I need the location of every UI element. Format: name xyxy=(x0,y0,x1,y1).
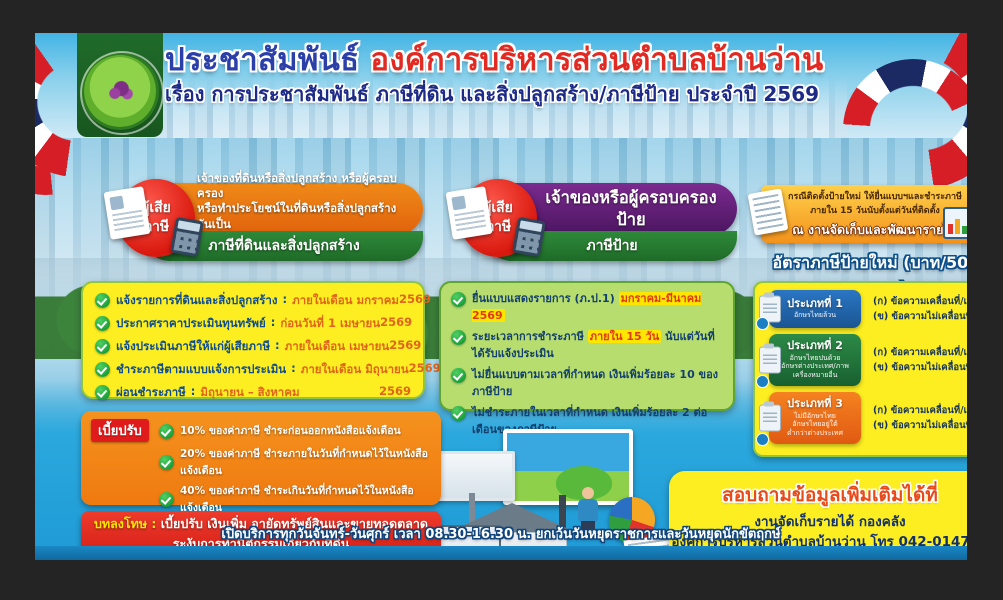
list-item: แจ้งประเมินภาษีให้แก่ผู้เสียภาษี : ภายใน… xyxy=(95,338,411,356)
footer-hours: เปิดบริการทุกวันจันทร์-วันศุกร์ เวลา 08.… xyxy=(35,523,967,544)
penalty-item: 10% ของค่าภาษี ชำระก่อนออกหนังสือแจ้งเตื… xyxy=(180,422,401,439)
logo-ring xyxy=(80,51,164,135)
rate-descriptions: (ก) ข้อความเคลื่อนที่/เปลี่ยนได้ (ข) ข้อ… xyxy=(861,403,967,433)
sign-rule-highlight: ภายใน 15 วัน xyxy=(588,330,661,343)
taxpayer-land-desc-line2: หรือทำประโยชน์ในที่ดินหรือสิ่งปลูกสร้างอ… xyxy=(197,201,409,231)
poster-header: ประชาสัมพันธ์ องค์การบริหารส่วนตำบลบ้านว… xyxy=(35,33,967,138)
new-sign-notice: กรณีติดตั้งป้ายใหม่ ให้ยื่นแบบฯและชำระภา… xyxy=(761,185,967,243)
rate-desc-a: (ก) ข้อความเคลื่อนที่/เปลี่ยนได้ xyxy=(873,345,967,360)
poster-canvas: ประชาสัมพันธ์ องค์การบริหารส่วนตำบลบ้านว… xyxy=(35,33,967,560)
sign-rule-text: ไม่ยื่นแบบตามเวลาที่กำหนด เงินเพิ่มร้อยล… xyxy=(472,367,723,400)
list-item: ยื่นแบบแสดงรายการ (ภ.ป.1) มกราคม-มีนาคม … xyxy=(451,291,723,324)
page-subtitle: เรื่อง การประชาสัมพันธ์ ภาษีที่ดิน และสิ… xyxy=(165,82,817,106)
check-badge-icon xyxy=(756,317,769,330)
check-icon xyxy=(159,424,174,439)
schedule-year: 2569 xyxy=(380,315,412,329)
footer-strip xyxy=(35,546,967,560)
check-icon xyxy=(95,316,110,331)
list-item: ประกาศราคาประเมินทุนทรัพย์ : ก่อนวันที่ … xyxy=(95,315,411,333)
taxpayer-land-banner: เจ้าของที่ดินหรือสิ่งปลูกสร้าง หรือผู้คร… xyxy=(93,183,423,275)
rate-desc-a: (ก) ข้อความเคลื่อนที่/เปลี่ยนได้ xyxy=(873,403,967,418)
penalty-fine-tag: เบี้ยปรับ xyxy=(91,419,149,442)
taxpayer-sign-banner: เจ้าของหรือผู้ครอบครองป้าย ภาษีป้าย ผู้เ… xyxy=(435,183,735,275)
schedule-label: ประกาศราคาประเมินทุนทรัพย์ xyxy=(116,315,266,333)
rate-category-3: ประเภทที่ 3 ไม่มีอักษรไทย อักษรไทยอยู่ใต… xyxy=(769,392,861,444)
list-item: ชำระภาษีตามแบบแจ้งการประเมิน : ภายในเดือ… xyxy=(95,361,411,379)
taxpayer-land-badge: ผู้เสีย ภาษี xyxy=(117,179,195,257)
schedule-year: 2569 xyxy=(399,292,431,306)
rate-category-2: ประเภทที่ 2 อักษรไทยปนด้วย อักษรต่างประเ… xyxy=(769,334,861,386)
person-head xyxy=(582,487,594,499)
rate-desc-b: (ข) ข้อความไม่เคลื่อนที่/เปลี่ยนไม่ได้ xyxy=(873,360,967,375)
taxpayer-land-desc-line1: เจ้าของที่ดินหรือสิ่งปลูกสร้าง หรือผู้คร… xyxy=(197,171,409,201)
contact-heading: สอบถามข้อมูลเพิ่มเติมได้ที่ xyxy=(722,480,938,510)
page-title: ประชาสัมพันธ์ องค์การบริหารส่วนตำบลบ้านว… xyxy=(165,43,817,78)
schedule-colon: : xyxy=(275,338,280,352)
rate-desc-a: (ก) ข้อความเคลื่อนที่/เปลี่ยนได้ xyxy=(873,294,967,309)
penalty-fine-tag-slot: เบี้ยปรับ xyxy=(91,419,159,442)
schedule-when: ภายในเดือน เมษายน xyxy=(285,338,390,356)
rate-desc-b: (ข) ข้อความไม่เคลื่อนที่/เปลี่ยนไม่ได้ xyxy=(873,309,967,324)
check-icon xyxy=(451,368,466,383)
notice-line2: ภายใน 15 วันนับตั้งแต่วันที่ติดตั้ง xyxy=(769,205,967,219)
title-block: ประชาสัมพันธ์ องค์การบริหารส่วนตำบลบ้านว… xyxy=(165,43,817,106)
check-icon xyxy=(159,455,174,470)
schedule-colon: : xyxy=(291,361,296,375)
schedule-year: 2569 xyxy=(379,384,411,398)
billboard-small-icon xyxy=(437,451,515,501)
schedule-label: แจ้งประเมินภาษีให้แก่ผู้เสียภาษี xyxy=(116,338,270,356)
rate-category-1: ประเภทที่ 1 อักษรไทยล้วน xyxy=(769,290,861,328)
schedule-when: ภายในเดือน มกราคม xyxy=(292,292,399,310)
check-icon xyxy=(159,492,174,507)
check-icon xyxy=(95,362,110,377)
rate-desc-b: (ข) ข้อความไม่เคลื่อนที่/เปลี่ยนไม่ได้ xyxy=(873,418,967,433)
bar-chart-icon xyxy=(943,207,967,239)
check-icon xyxy=(451,330,466,345)
sign-rule-pre: ระยะเวลาการชำระภาษี xyxy=(472,330,588,343)
sign-rule-pre: ยื่นแบบแสดงรายการ (ภ.ป.1) xyxy=(472,292,619,305)
clipboard-icon xyxy=(759,405,781,432)
rate-category-title: ประเภทที่ 1 xyxy=(787,298,843,311)
document-icon xyxy=(445,186,492,240)
sign-rule-text: ยื่นแบบแสดงรายการ (ภ.ป.1) มกราคม-มีนาคม … xyxy=(472,291,723,324)
schedule-when: มิถุนายน – สิงหาคม xyxy=(200,384,299,402)
sign-rule-text: ระยะเวลาการชำระภาษี ภายใน 15 วัน นับแต่ว… xyxy=(472,329,723,362)
schedule-label: ชำระภาษีตามแบบแจ้งการประเมิน xyxy=(116,361,286,379)
schedule-label: แจ้งรายการที่ดินและสิ่งปลูกสร้าง xyxy=(116,292,278,310)
document-icon xyxy=(103,186,150,240)
penalty-panel: เบี้ยปรับ 10% ของค่าภาษี ชำระก่อนออกหนัง… xyxy=(81,411,441,505)
sign-rules-panel: ยื่นแบบแสดงรายการ (ภ.ป.1) มกราคม-มีนาคม … xyxy=(439,281,735,411)
taxpayer-sign-badge: ผู้เสีย ภาษี xyxy=(459,179,537,257)
schedule-when: ก่อนวันที่ 1 เมษายน xyxy=(280,315,380,333)
check-icon xyxy=(95,385,110,400)
check-badge-icon xyxy=(756,433,769,446)
notice-line3: ณ งานจัดเก็บและพัฒนารายได้ xyxy=(769,220,967,240)
rate-descriptions: (ก) ข้อความเคลื่อนที่/เปลี่ยนได้ (ข) ข้อ… xyxy=(861,345,967,375)
check-badge-icon xyxy=(756,375,769,388)
schedule-colon: : xyxy=(283,292,288,306)
table-row: ประเภทที่ 3 ไม่มีอักษรไทย อักษรไทยอยู่ใต… xyxy=(769,392,967,444)
organization-logo xyxy=(61,33,167,151)
rate-category-sub: ไม่มีอักษรไทย อักษรไทยอยู่ใต้ ต่ำกว่าต่า… xyxy=(787,412,843,438)
penalty-row: 20% ของค่าภาษี ชำระภายในวันที่กำหนดไว้ใน… xyxy=(91,445,431,479)
penalty-item: 20% ของค่าภาษี ชำระภายในวันที่กำหนดไว้ใน… xyxy=(180,445,431,479)
table-row: ประเภทที่ 2 อักษรไทยปนด้วย อักษรต่างประเ… xyxy=(769,334,967,386)
schedule-colon: : xyxy=(191,384,196,398)
clipboard-pen-icon xyxy=(748,188,789,235)
schedule-label: ผ่อนชำระภาษี xyxy=(116,384,186,402)
clipboard-icon xyxy=(759,347,781,374)
rate-descriptions: (ก) ข้อความเคลื่อนที่/เปลี่ยนได้ (ข) ข้อ… xyxy=(861,294,967,324)
sign-rate-table: ประเภทที่ 1 อักษรไทยล้วน (ก) ข้อความเคลื… xyxy=(753,281,967,457)
penalty-row: เบี้ยปรับ 10% ของค่าภาษี ชำระก่อนออกหนัง… xyxy=(91,419,431,442)
schedule-year: 2569 xyxy=(409,361,441,375)
title-red-part: องค์การบริหารส่วนตำบลบ้านว่าน xyxy=(370,42,823,78)
rate-category-sub: อักษรไทยล้วน xyxy=(794,311,836,320)
list-item: ระยะเวลาการชำระภาษี ภายใน 15 วัน นับแต่ว… xyxy=(451,329,723,362)
taxpayer-sign-description: เจ้าของหรือผู้ครอบครองป้าย xyxy=(539,187,723,231)
schedule-when: ภายในเดือน มิถุนายน xyxy=(301,361,409,379)
check-icon xyxy=(95,339,110,354)
rate-category-title: ประเภทที่ 2 xyxy=(787,340,843,353)
billboard-large-icon xyxy=(503,429,633,505)
list-item: แจ้งรายการที่ดินและสิ่งปลูกสร้าง : ภายใน… xyxy=(95,292,411,310)
schedule-year: 2569 xyxy=(389,338,421,352)
notice-line1: กรณีติดตั้งป้ายใหม่ ให้ยื่นแบบฯและชำระภา… xyxy=(769,191,967,205)
list-item: ผ่อนชำระภาษี : มิถุนายน – สิงหาคม 2569 xyxy=(95,384,411,402)
check-icon xyxy=(451,406,466,421)
rate-category-sub: อักษรไทยปนด้วย อักษรต่างประเทศ/ภาพ เครื่… xyxy=(781,354,849,380)
land-schedule-panel: แจ้งรายการที่ดินและสิ่งปลูกสร้าง : ภายใน… xyxy=(81,281,425,399)
title-blue-part: ประชาสัมพันธ์ xyxy=(165,42,359,78)
list-item: ไม่ยื่นแบบตามเวลาที่กำหนด เงินเพิ่มร้อยล… xyxy=(451,367,723,400)
rate-category-title: ประเภทที่ 3 xyxy=(787,398,843,411)
check-icon xyxy=(451,292,466,307)
schedule-colon: : xyxy=(271,315,276,329)
table-row: ประเภทที่ 1 อักษรไทยล้วน (ก) ข้อความเคลื… xyxy=(769,290,967,328)
check-icon xyxy=(95,293,110,308)
